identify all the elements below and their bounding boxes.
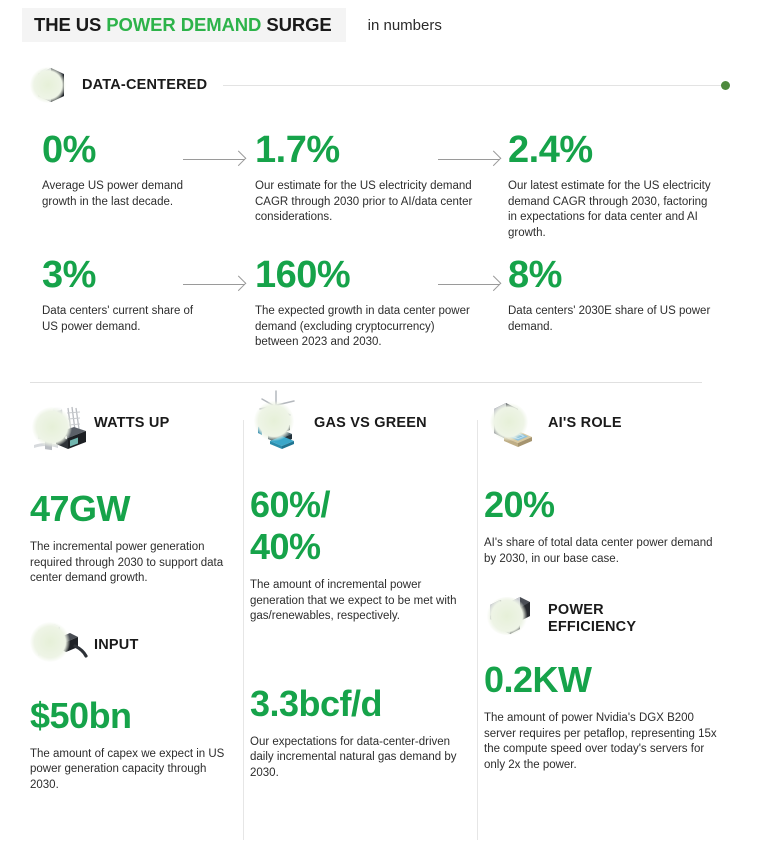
stat-value-line-1: 60%/ xyxy=(250,484,468,526)
plug-outlet-icon xyxy=(30,618,86,674)
server-cluster-icon xyxy=(484,591,540,647)
category-label-line-1: POWER xyxy=(548,602,636,619)
stat-description: The incremental power generation require… xyxy=(30,540,238,587)
page-title: THE US POWER DEMAND SURGE xyxy=(34,14,332,36)
arrow-right-icon-4 xyxy=(438,279,500,291)
category-header-power-efficiency: POWER EFFICIENCY xyxy=(484,593,724,645)
category-label: WATTS UP xyxy=(94,415,169,432)
stat-value: 3% xyxy=(42,255,202,295)
column-divider-1 xyxy=(243,420,244,840)
header-title-box: THE US POWER DEMAND SURGE xyxy=(22,8,346,42)
stat-description: AI's share of total data center power de… xyxy=(484,536,724,567)
category-label: GAS VS GREEN xyxy=(314,415,427,432)
category-label-line-2: EFFICIENCY xyxy=(548,619,636,636)
stat-card-1-7-pct: 1.7% Our estimate for the US electricity… xyxy=(255,130,480,226)
stat-description: The amount of incremental power generati… xyxy=(250,578,468,625)
bottom-columns: WATTS UP 47GW The incremental power gene… xyxy=(22,392,742,854)
stat-block-50bn: $50bn The amount of capex we expect in U… xyxy=(30,695,238,794)
title-highlight: POWER DEMAND xyxy=(106,14,261,35)
stat-description: Our expectations for data-center-driven … xyxy=(250,735,468,782)
column-ais-role: AI'S ROLE 20% AI's share of total data c… xyxy=(484,392,724,854)
stat-description: The amount of power Nvidia's DGX B200 se… xyxy=(484,711,724,773)
stat-block-47gw: 47GW The incremental power generation re… xyxy=(30,488,238,587)
stat-value: $50bn xyxy=(30,695,238,737)
stat-block-60-40: 60%/ 40% The amount of incremental power… xyxy=(250,484,468,625)
stat-card-3-pct: 3% Data centers' current share of US pow… xyxy=(42,255,202,335)
section-rule xyxy=(223,85,722,86)
stat-description: Our estimate for the US electricity dema… xyxy=(255,179,480,226)
stat-value: 47GW xyxy=(30,488,238,530)
category-header-watts-up: WATTS UP xyxy=(30,392,238,454)
category-label: INPUT xyxy=(94,637,139,654)
column-divider-2 xyxy=(477,420,478,840)
section-header-data-centered: DATA-CENTERED xyxy=(30,64,730,106)
stat-description: Our latest estimate for the US electrici… xyxy=(508,179,718,241)
power-plant-icon xyxy=(30,395,86,451)
stat-value-line-2: 40% xyxy=(250,526,468,568)
stat-card-2-4-pct: 2.4% Our latest estimate for the US elec… xyxy=(508,130,718,241)
page-header: THE US POWER DEMAND SURGE in numbers xyxy=(22,8,742,42)
stat-description: Data centers' current share of US power … xyxy=(42,304,202,335)
section-divider xyxy=(30,382,702,383)
arrow-right-icon-3 xyxy=(183,279,245,291)
title-part-2: SURGE xyxy=(261,14,331,35)
wind-turbine-layers-icon xyxy=(250,395,306,451)
title-part-1: THE US xyxy=(34,14,106,35)
category-header-input: INPUT xyxy=(30,615,238,677)
stat-value: 8% xyxy=(508,255,713,295)
stat-card-160-pct: 160% The expected growth in data center … xyxy=(255,255,470,351)
section-label: DATA-CENTERED xyxy=(82,77,207,93)
arrow-right-icon-2 xyxy=(438,154,500,166)
server-rack-icon xyxy=(30,64,72,106)
stat-value: 0.2KW xyxy=(484,659,724,701)
stat-value: 20% xyxy=(484,484,724,526)
category-header-ais-role: AI'S ROLE xyxy=(484,392,724,454)
stat-description: Data centers' 2030E share of US power de… xyxy=(508,304,713,335)
section-end-dot xyxy=(721,81,730,90)
stat-card-0-pct: 0% Average US power demand growth in the… xyxy=(42,130,202,210)
category-label: AI'S ROLE xyxy=(548,415,622,432)
category-label: POWER EFFICIENCY xyxy=(548,602,636,636)
stat-block-0-2kw: 0.2KW The amount of power Nvidia's DGX B… xyxy=(484,659,724,773)
column-watts-up: WATTS UP 47GW The incremental power gene… xyxy=(30,392,238,854)
stat-card-8-pct: 8% Data centers' 2030E share of US power… xyxy=(508,255,713,335)
stat-value: 2.4% xyxy=(508,130,718,170)
stat-block-20pct: 20% AI's share of total data center powe… xyxy=(484,484,724,567)
server-chip-icon xyxy=(484,395,540,451)
stat-description: The expected growth in data center power… xyxy=(255,304,470,351)
stat-description: The amount of capex we expect in US powe… xyxy=(30,747,238,794)
arrow-right-icon-1 xyxy=(183,154,245,166)
stat-value: 3.3bcf/d xyxy=(250,683,468,725)
category-header-gas-vs-green: GAS VS GREEN xyxy=(250,392,468,454)
stat-value: 0% xyxy=(42,130,202,170)
stat-block-3-3bcfd: 3.3bcf/d Our expectations for data-cente… xyxy=(250,683,468,782)
header-subtitle: in numbers xyxy=(368,17,442,34)
stat-description: Average US power demand growth in the la… xyxy=(42,179,202,210)
column-gas-vs-green: GAS VS GREEN 60%/ 40% The amount of incr… xyxy=(250,392,468,854)
